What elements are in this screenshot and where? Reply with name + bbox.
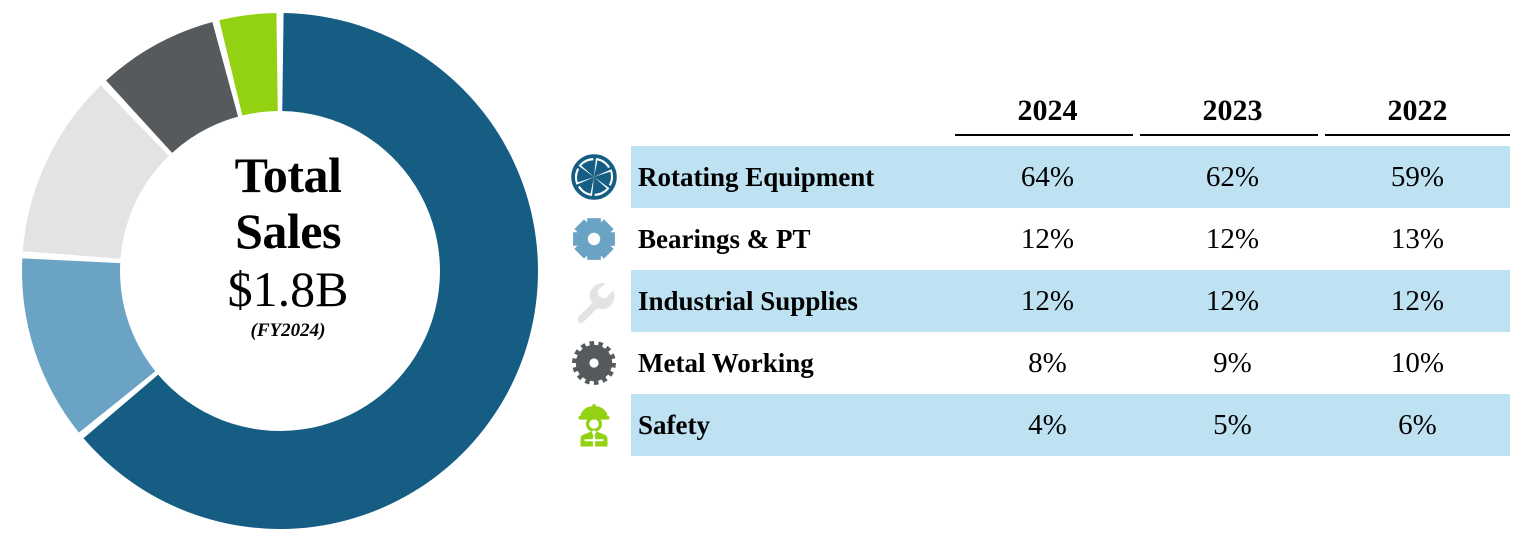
wrench-icon <box>570 277 618 325</box>
table-row[interactable]: Metal Working8%9%10% <box>560 332 1527 394</box>
gear-icon <box>570 215 618 263</box>
worker-hardhat-icon <box>570 401 618 449</box>
table-header-row: 2024 2023 2022 <box>560 92 1527 144</box>
cell-2024: 64% <box>955 146 1140 208</box>
column-header-2023: 2023 <box>1140 92 1325 144</box>
column-header-2024: 2024 <box>955 92 1140 144</box>
row-label: Metal Working <box>638 332 814 394</box>
donut-slices <box>22 13 538 529</box>
cell-2022: 10% <box>1325 332 1510 394</box>
cell-2022: 6% <box>1325 394 1510 456</box>
table-row[interactable]: Rotating Equipment64%62%59% <box>560 146 1527 208</box>
aperture-impeller-icon <box>570 153 618 201</box>
aperture-impeller-icon <box>570 153 618 201</box>
cell-2022: 59% <box>1325 146 1510 208</box>
cell-2023: 12% <box>1140 208 1325 270</box>
cell-2024: 12% <box>955 270 1140 332</box>
row-label: Safety <box>638 394 710 456</box>
cell-2024: 4% <box>955 394 1140 456</box>
cell-2023: 62% <box>1140 146 1325 208</box>
table-row[interactable]: Bearings & PT12%12%13% <box>560 208 1527 270</box>
sales-mix-infographic: Total Sales $1.8B (FY2024) 2024 2023 202… <box>0 0 1527 542</box>
column-rule-2022 <box>1325 134 1510 136</box>
cell-2023: 12% <box>1140 270 1325 332</box>
donut-chart <box>8 10 553 532</box>
row-label: Bearings & PT <box>638 208 811 270</box>
donut-chart-panel: Total Sales $1.8B (FY2024) <box>0 0 560 542</box>
category-share-table: 2024 2023 2022 Rotating Equipment64%62%5… <box>560 0 1527 542</box>
column-rule-2023 <box>1140 134 1318 136</box>
table-row[interactable]: Industrial Supplies12%12%12% <box>560 270 1527 332</box>
cell-2024: 12% <box>955 208 1140 270</box>
cell-2022: 12% <box>1325 270 1510 332</box>
worker-hardhat-icon <box>570 401 618 449</box>
saw-blade-icon <box>570 339 618 387</box>
cell-2023: 5% <box>1140 394 1325 456</box>
column-header-2022: 2022 <box>1325 92 1510 144</box>
cell-2024: 8% <box>955 332 1140 394</box>
row-label: Industrial Supplies <box>638 270 858 332</box>
wrench-icon <box>570 277 618 325</box>
cell-2022: 13% <box>1325 208 1510 270</box>
gear-icon <box>570 215 618 263</box>
saw-blade-icon <box>570 339 618 387</box>
cell-2023: 9% <box>1140 332 1325 394</box>
row-label: Rotating Equipment <box>638 146 874 208</box>
column-rule-2024 <box>955 134 1133 136</box>
table-row[interactable]: Safety4%5%6% <box>560 394 1527 456</box>
table-body: Rotating Equipment64%62%59%Bearings & PT… <box>560 146 1527 456</box>
